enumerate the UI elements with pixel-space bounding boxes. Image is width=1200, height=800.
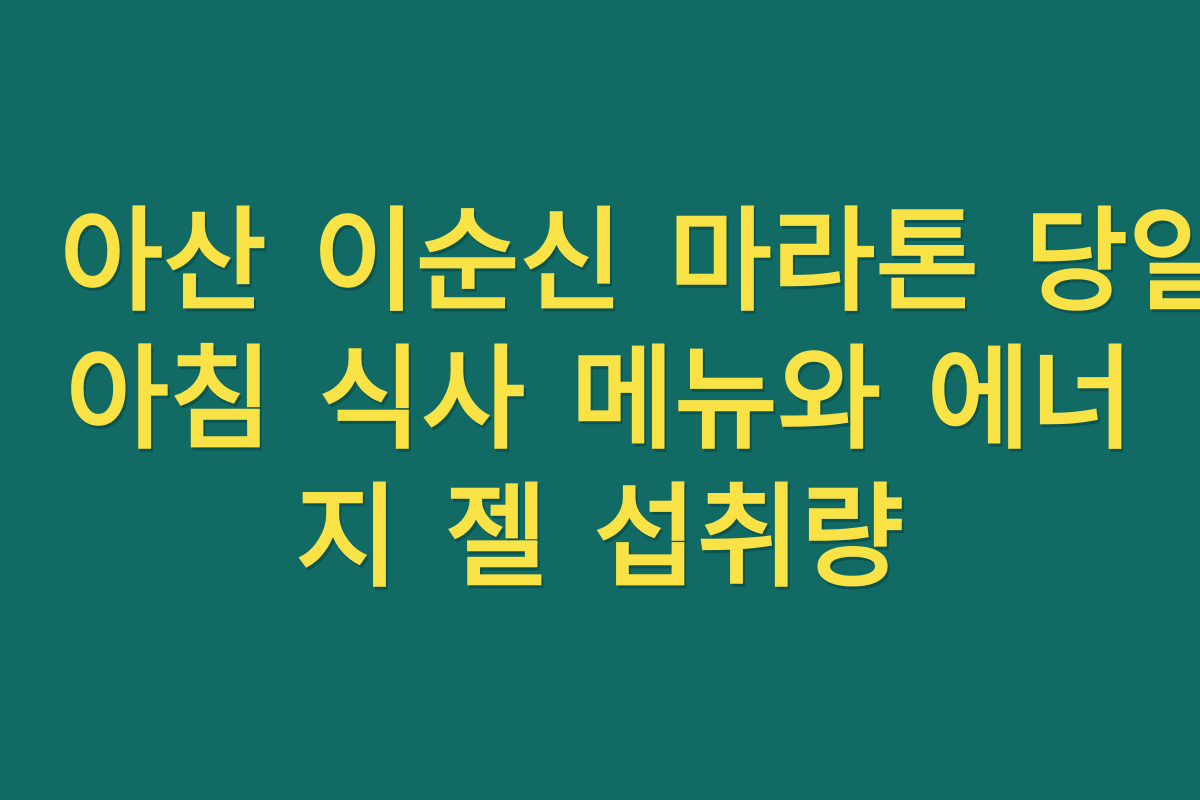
headline-line-3: 지 젤 섭취량 [60, 469, 1140, 607]
headline-line-1: 아산 이순신 마라톤 당일 [60, 193, 1140, 331]
title-card: 아산 이순신 마라톤 당일 아침 식사 메뉴와 에너 지 젤 섭취량 [0, 0, 1200, 800]
headline-line-2: 아침 식사 메뉴와 에너 [60, 331, 1140, 469]
page-title: 아산 이순신 마라톤 당일 아침 식사 메뉴와 에너 지 젤 섭취량 [60, 193, 1140, 607]
